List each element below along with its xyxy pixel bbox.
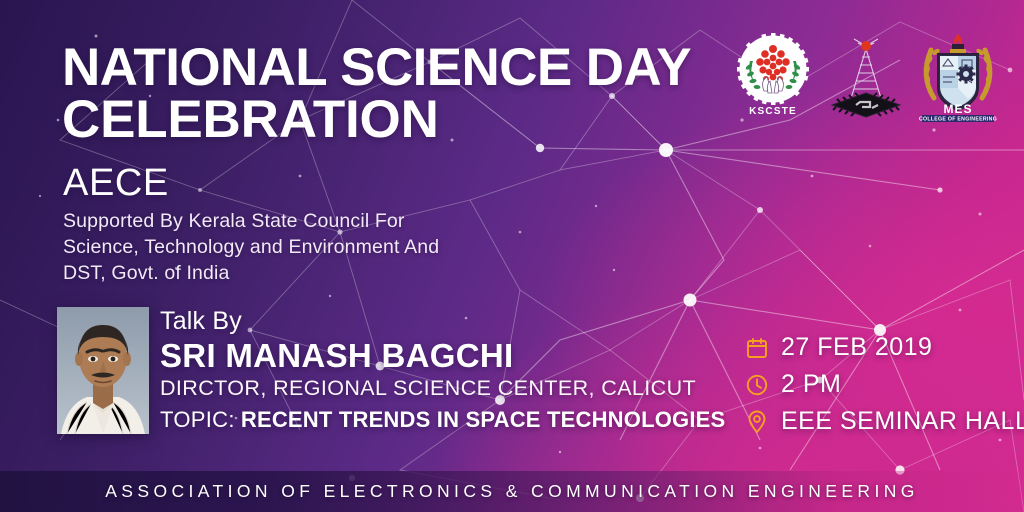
mes-college-of-engineering-logo: MES COLLEGE OF ENGINEERING bbox=[914, 30, 1002, 127]
footer-association-text: ASSOCIATION OF ELECTRONICS & COMMUNICATI… bbox=[105, 481, 919, 502]
speaker-role: DIRCTOR, REGIONAL SCIENCE CENTER, CALICU… bbox=[160, 376, 740, 402]
event-poster-banner: KSCSTE bbox=[0, 0, 1024, 512]
support-credit-text: Supported By Kerala State Council For Sc… bbox=[63, 209, 583, 287]
poster-title-line-2: CELEBRATION bbox=[62, 94, 752, 146]
poster-headline: NATIONAL SCIENCE DAY CELEBRATION bbox=[62, 42, 752, 147]
event-time-text: 2 PM bbox=[781, 370, 841, 399]
support-line-1: Supported By Kerala State Council For bbox=[63, 209, 583, 235]
logo-group: KSCSTE bbox=[734, 31, 1006, 123]
speaker-name: SRI MANASH BAGCHI bbox=[160, 337, 740, 375]
topic-label: TOPIC: bbox=[160, 407, 235, 432]
svg-text:MES: MES bbox=[943, 102, 972, 116]
event-date-row: 27 FEB 2019 bbox=[744, 330, 1009, 365]
event-time-row: 2 PM bbox=[744, 367, 1009, 402]
calendar-icon bbox=[744, 335, 770, 361]
clock-icon bbox=[744, 372, 770, 398]
support-line-2: Science, Technology and Environment And bbox=[63, 235, 583, 261]
location-pin-icon bbox=[744, 409, 770, 435]
iete-antenna-chip-logo bbox=[826, 35, 906, 124]
topic-value: RECENT TRENDS IN SPACE TECHNOLOGIES bbox=[241, 407, 726, 432]
support-line-3: DST, Govt. of India bbox=[63, 261, 583, 287]
talk-by-label: Talk By bbox=[160, 308, 740, 336]
event-date-text: 27 FEB 2019 bbox=[781, 333, 932, 362]
event-venue-text: EEE SEMINAR HALL bbox=[781, 407, 1024, 436]
footer-band: ASSOCIATION OF ELECTRONICS & COMMUNICATI… bbox=[0, 471, 1024, 512]
event-venue-row: EEE SEMINAR HALL bbox=[744, 404, 1009, 439]
topic-line: TOPIC: RECENT TRENDS IN SPACE TECHNOLOGI… bbox=[160, 407, 740, 433]
speaker-block: Talk By SRI MANASH BAGCHI DIRCTOR, REGIO… bbox=[160, 308, 740, 434]
organizer-acronym: AECE bbox=[63, 162, 169, 205]
speaker-photo bbox=[57, 307, 149, 434]
poster-title-line-1: NATIONAL SCIENCE DAY bbox=[62, 42, 752, 94]
event-details: 27 FEB 2019 2 PM EEE SEMINAR HALL bbox=[744, 330, 1009, 441]
svg-text:COLLEGE OF ENGINEERING: COLLEGE OF ENGINEERING bbox=[919, 117, 997, 122]
svg-text:KSCSTE: KSCSTE bbox=[749, 106, 797, 117]
